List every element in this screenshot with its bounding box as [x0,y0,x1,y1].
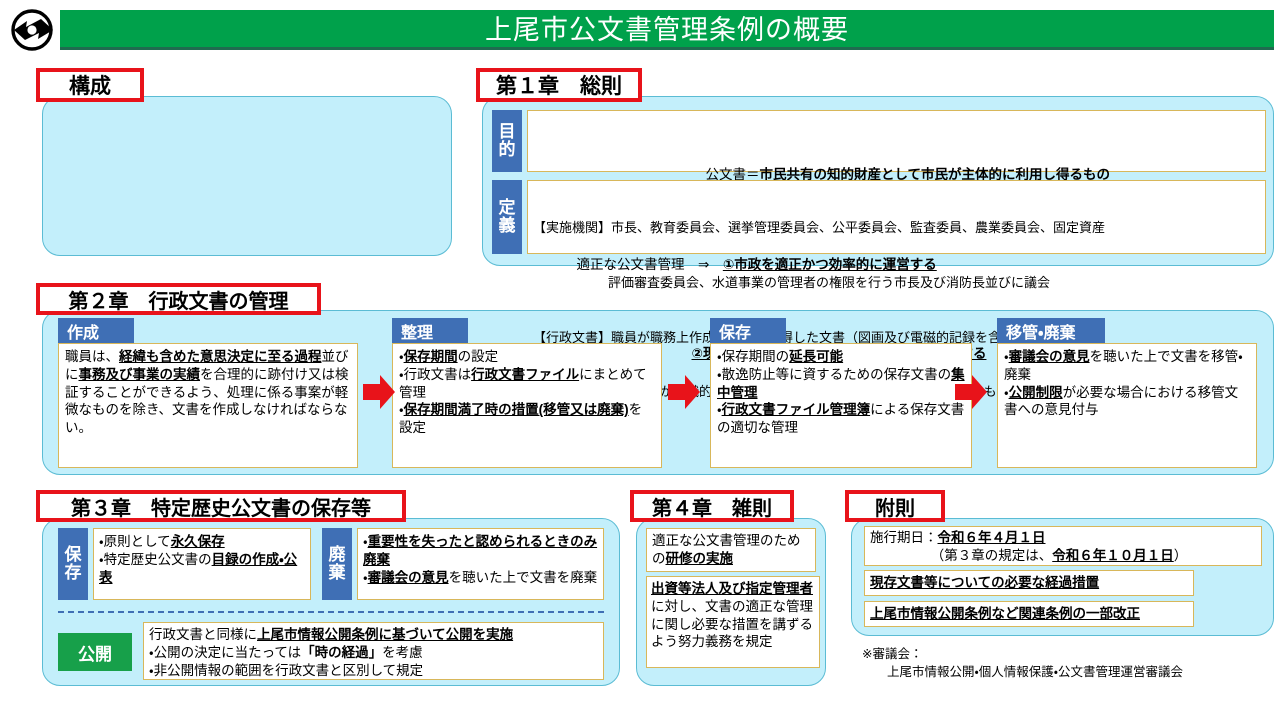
step-box-transfer-discard: ・審議会の意見を聴いた上で文書を移管・廃棄 ・公開制限が必要な場合における移管文… [997,343,1257,468]
supplementary-amendments-body: 上尾市情報公開条例など関連条例の一部改正 [865,602,1193,626]
step-tab-organize: 整理 [392,318,468,343]
step-body-transfer-discard: ・審議会の意見を聴いた上で文書を移管・廃棄 ・公開制限が必要な場合における移管文… [998,344,1256,423]
step-box-store: ・保存期間の延長可能 ・散逸防止等に資するための保存文書の集中管理 ・行政文書フ… [710,343,972,468]
step-tab-create: 作成 [58,318,134,343]
chapter3-preserve-label: 保存 [58,528,88,600]
chapter1-definition-label-text: 定義 [492,199,522,235]
composition-tag: 構成 [36,68,144,102]
chapter4-corporations-body: 出資等法人及び指定管理者に対し、文書の適正な管理に関し必要な措置を講ずるよう努力… [647,577,819,654]
page-header: 上尾市公文書管理条例の概要 [0,0,1280,60]
chapter3-discard-body: ・重要性を失ったと認められるときのみ廃棄 ・審議会の意見を聴いた上で文書を廃棄 [358,529,603,590]
council-footnote: ※審議会： 上尾市情報公開・個人情報保護・公文書管理運営審議会 [862,645,1272,681]
supplementary-row-transitional: 現存文書等についての必要な経過措置 [864,570,1194,596]
chapter4-box-training: 適正な公文書管理のための研修の実施 [646,528,816,572]
step-tab-store: 保存 [710,318,786,343]
flow-arrow-1 [363,375,395,409]
chapter3-disclosure-body: 行政文書と同様に上尾市情報公開条例に基づいて公開を実施 ・公開の決定に当たっては… [144,623,603,682]
step-box-organize: ・保存期間の設定 ・行政文書は行政文書ファイルにまとめて管理 ・保存期間満了時の… [392,343,662,468]
supplementary-row-enforcement: 施行期日：令和６年４月１日 （第３章の規定は、令和６年１０月１日） [864,526,1262,566]
chapter3-discard-label-text: 廃棄 [322,546,352,582]
step-label-create: 作成 [67,319,99,343]
chapter3-disclosure-label-text: 公開 [78,640,112,665]
chapter4-training-body: 適正な公文書管理のための研修の実施 [647,529,815,571]
step-label-organize: 整理 [401,319,433,343]
step-label-store: 保存 [719,319,751,343]
step-body-create: 職員は、経緯も含めた意思決定に至る過程並びに事務及び事業の実績を合理的に跡付け又… [59,344,357,441]
chapter3-preserve-box: ・原則として永久保存 ・特定歴史公文書の目録の作成・公表 [93,528,311,600]
step-box-create: 職員は、経緯も含めた意思決定に至る過程並びに事務及び事業の実績を合理的に跡付け又… [58,343,358,468]
chapter3-disclosure-box: 行政文書と同様に上尾市情報公開条例に基づいて公開を実施 ・公開の決定に当たっては… [143,622,604,680]
composition-panel [42,96,452,256]
flow-arrow-3 [955,375,987,409]
chapter3-separator [58,611,604,613]
chapter4-tag: 第４章 雑則 [630,490,794,522]
step-tab-transfer-discard: 移管・廃棄 [997,318,1105,343]
chapter3-disclosure-label: 公開 [58,633,132,671]
title-bar: 上尾市公文書管理条例の概要 [60,10,1274,50]
step-label-transfer-discard: 移管・廃棄 [1006,319,1075,343]
chapter1-purpose-label-text: 目的 [492,123,522,159]
chapter1-tag: 第１章 総則 [476,68,642,102]
definition-line1: 【実施機関】市長、教育委員会、選挙管理委員会、公平委員会、監査委員、農業委員会、… [533,219,1260,237]
chapter3-discard-label: 廃棄 [322,528,352,600]
chapter1-definition-box: 【実施機関】市長、教育委員会、選挙管理委員会、公平委員会、監査委員、農業委員会、… [527,180,1266,254]
step-body-organize: ・保存期間の設定 ・行政文書は行政文書ファイルにまとめて管理 ・保存期間満了時の… [393,344,661,441]
chapter3-preserve-body: ・原則として永久保存 ・特定歴史公文書の目録の作成・公表 [94,529,310,590]
supplementary-transitional-body: 現存文書等についての必要な経過措置 [865,571,1193,595]
supplementary-row-amendments: 上尾市情報公開条例など関連条例の一部改正 [864,601,1194,627]
chapter3-preserve-label-text: 保存 [58,546,88,582]
chapter3-discard-box: ・重要性を失ったと認められるときのみ廃棄 ・審議会の意見を聴いた上で文書を廃棄 [357,528,604,600]
ageo-city-emblem-icon [8,6,56,54]
chapter1-purpose-box: 公文書＝市民共有の知的財産として市民が主体的に利用し得るもの 適正な公文書管理 … [527,110,1266,172]
chapter1-definition-label: 定義 [492,180,522,254]
supplementary-enforcement-body: 施行期日：令和６年４月１日 （第３章の規定は、令和６年１０月１日） [865,527,1261,567]
supplementary-tag: 附則 [845,490,945,522]
chapter2-tag: 第２章 行政文書の管理 [36,283,321,315]
definition-line2: 評価審査委員会、水道事業の管理者の権限を行う市長及び消防長並びに議会 [533,274,1260,292]
page-title: 上尾市公文書管理条例の概要 [60,12,1274,48]
flow-arrow-2 [668,375,700,409]
step-body-store: ・保存期間の延長可能 ・散逸防止等に資するための保存文書の集中管理 ・行政文書フ… [711,344,971,441]
chapter3-tag: 第３章 特定歴史公文書の保存等 [36,490,406,522]
chapter4-box-corporations: 出資等法人及び指定管理者に対し、文書の適正な管理に関し必要な措置を講ずるよう努力… [646,576,820,668]
chapter1-purpose-label: 目的 [492,110,522,172]
